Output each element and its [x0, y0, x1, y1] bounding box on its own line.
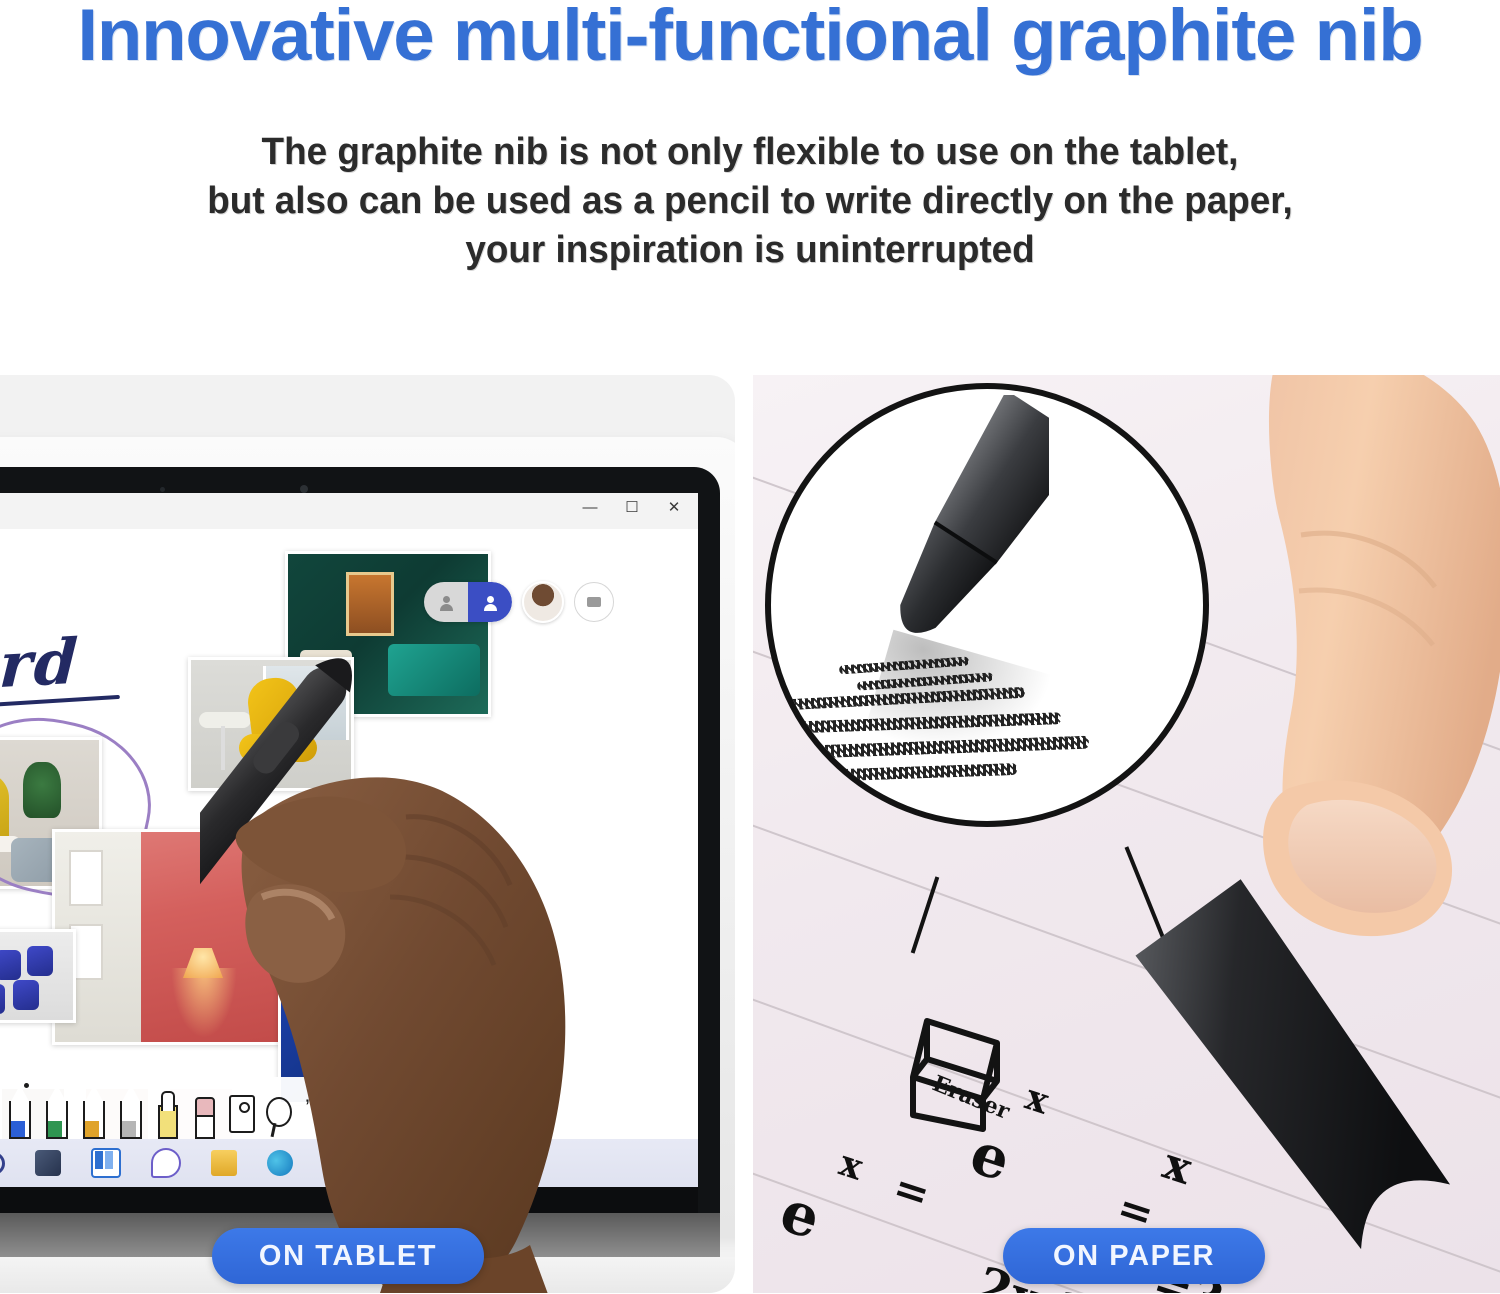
page-subtitle: The graphite nib is not only flexible to…: [23, 128, 1478, 275]
presence-toggle[interactable]: [424, 582, 512, 622]
paper-scene-panel: Eraser e x = e x 2x-3 = x =3 +: [753, 375, 1500, 1293]
maximize-icon[interactable]: ☐: [624, 500, 640, 515]
task-view-icon[interactable]: [35, 1150, 61, 1176]
hand-holding-stylus: [200, 645, 640, 1293]
minimize-icon[interactable]: —: [582, 500, 598, 515]
subtitle-line-2: but also can be used as a pencil to writ…: [23, 177, 1478, 226]
pen-blue-icon[interactable]: [5, 1085, 31, 1139]
graphite-nib-icon: [899, 395, 1049, 665]
collaborator-cluster[interactable]: [424, 581, 614, 623]
tablet-scene-panel: — ☐ ✕: [0, 375, 735, 1293]
badge-on-paper: ON PAPER: [1003, 1228, 1265, 1284]
header: Innovative multi-functional graphite nib…: [0, 0, 1500, 370]
hand-holding-stylus: [1183, 375, 1500, 1065]
badge-on-tablet: ON TABLET: [212, 1228, 484, 1284]
chat-icon[interactable]: [151, 1148, 181, 1178]
pen-orange-icon[interactable]: [79, 1085, 105, 1139]
page-title: Innovative multi-functional graphite nib: [0, 0, 1500, 77]
subtitle-line-3: your inspiration is uninterrupted: [23, 226, 1478, 275]
window-controls[interactable]: — ☐ ✕: [582, 500, 682, 515]
eraser-label: Eraser: [929, 1070, 1014, 1124]
more-members-icon[interactable]: [574, 582, 614, 622]
sensor-icon: [160, 487, 165, 492]
subtitle-line-1: The graphite nib is not only flexible to…: [23, 128, 1478, 177]
eraser-drawing: Eraser: [879, 1003, 1029, 1133]
nib-closeup-magnifier: [765, 383, 1209, 827]
viewer-mode-icon[interactable]: [424, 582, 468, 622]
moodboard-image-blue-chairs[interactable]: [0, 929, 76, 1023]
close-icon[interactable]: ✕: [666, 500, 682, 515]
app-title-bar: — ☐ ✕: [0, 493, 698, 530]
presenter-mode-icon[interactable]: [468, 582, 512, 622]
board-title-handwriting: oard: [0, 625, 81, 707]
search-icon[interactable]: [0, 1152, 5, 1175]
front-camera-icon: [300, 485, 308, 493]
avatar[interactable]: [522, 581, 564, 623]
pen-green-icon[interactable]: [42, 1085, 68, 1139]
widgets-icon[interactable]: [91, 1148, 121, 1178]
highlighter-icon[interactable]: [153, 1085, 179, 1139]
pen-grey-icon[interactable]: [116, 1085, 142, 1139]
